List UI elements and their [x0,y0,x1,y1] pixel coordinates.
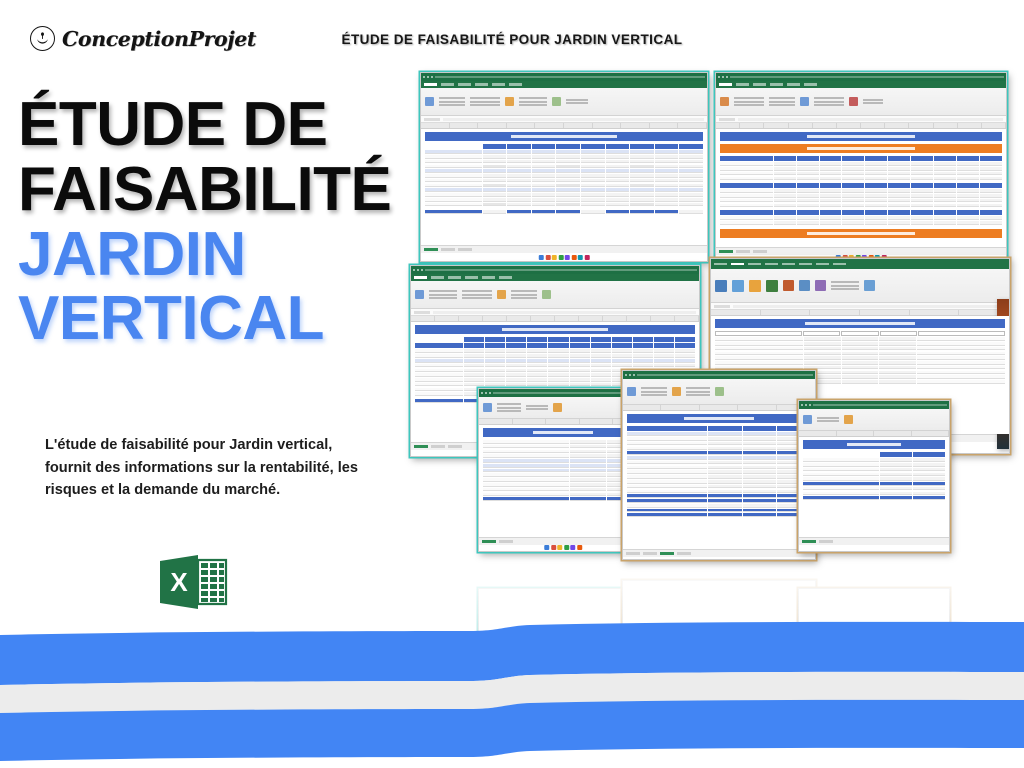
accent-banner [720,144,1002,153]
hero-description: L'étude de faisabilité pour Jardin verti… [45,434,380,502]
spreadsheet-window-7[interactable] [798,400,950,552]
sheet-title-banner [425,132,703,141]
bottom-wave-decoration [0,608,1024,768]
sheet-tabs[interactable] [623,549,815,557]
formula-bar[interactable] [711,303,1009,310]
ribbon-tabs[interactable] [421,81,707,88]
excel-icon-letter: X [170,567,188,597]
ribbon-toolbar[interactable] [716,88,1006,116]
excel-file-icon: X [158,551,228,613]
ribbon-toolbar[interactable] [711,269,1009,303]
sheet-grid[interactable] [716,129,1006,247]
sheet-title-banner [803,440,945,449]
sheet-title-banner [627,414,811,423]
hero-line-2: FAISABILITÉ [18,160,410,221]
window-titlebar [411,266,699,274]
brand-name: ConceptionProjet [62,27,256,51]
accent-banner-bottom [720,229,1002,238]
sheet-tabs[interactable] [716,247,1006,255]
hero-line-3: JARDIN [18,225,410,286]
spreadsheet-window-6[interactable] [622,370,816,560]
sheet-title-banner [715,319,1005,328]
hero-title-block: ÉTUDE DE FAISABILITÉ JARDIN VERTICAL [18,95,410,354]
window-titlebar [716,73,1006,81]
dock-icons [544,545,582,550]
ribbon-toolbar[interactable] [799,409,949,431]
sheet-tabs[interactable] [421,245,707,253]
page-kicker-title: ÉTUDE DE FAISABILITÉ POUR JARDIN VERTICA… [342,32,683,47]
ribbon-toolbar[interactable] [623,379,815,405]
hero-line-4: VERTICAL [18,289,410,350]
ribbon-toolbar[interactable] [411,281,699,309]
dock-icons [539,255,590,260]
sheet-title-banner [483,428,643,437]
ribbon-tabs[interactable] [411,274,699,281]
sheet-grid[interactable] [623,411,815,549]
ribbon-tabs[interactable] [716,81,1006,88]
hand-plant-circle-icon [30,26,55,51]
spreadsheet-window-1[interactable] [420,72,708,262]
formula-bar[interactable] [421,116,707,123]
hero-line-1: ÉTUDE DE [18,95,410,156]
sheet-grid[interactable] [799,437,949,537]
window-titlebar [421,73,707,81]
slide-canvas: ConceptionProjet ÉTUDE DE FAISABILITÉ PO… [0,0,1024,768]
spreadsheet-collage [400,60,1024,580]
formula-bar[interactable] [411,309,699,316]
sheet-grid[interactable] [421,129,707,245]
ribbon-toolbar[interactable] [421,88,707,116]
sheet-title-banner [415,325,695,334]
ribbon-tabs[interactable] [711,259,1009,269]
window-titlebar [623,371,815,379]
window-titlebar [799,401,949,409]
sheet-tabs[interactable] [799,537,949,545]
brand-logo: ConceptionProjet [30,26,256,51]
spreadsheet-window-2[interactable] [715,72,1007,262]
formula-bar[interactable] [716,116,1006,123]
sheet-title-banner [720,132,1002,141]
